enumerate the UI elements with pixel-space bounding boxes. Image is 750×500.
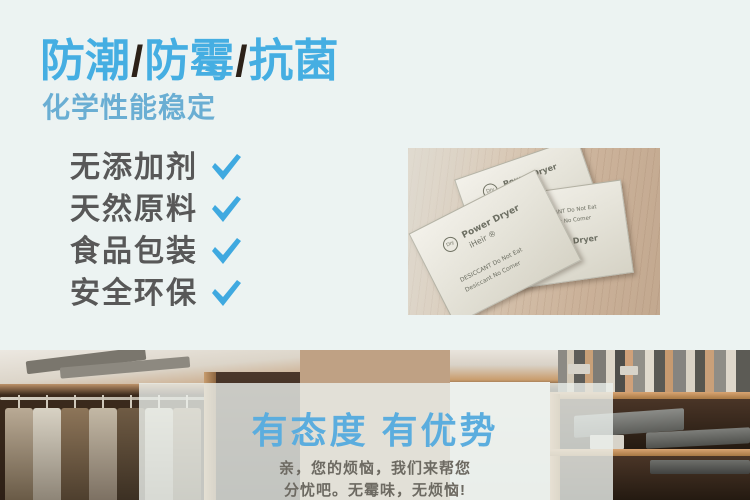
book [654,350,665,396]
book [726,350,736,396]
banner-subtitle: 亲，您的烦恼，我们来帮您 分忧吧。无霉味，无烦恼! [0,458,750,500]
banner-title: 有态度 有优势 [0,413,750,449]
book [686,350,695,396]
shelf-label [568,364,590,374]
book [695,350,705,396]
page-title: 防潮/防霉/抗菌 [40,38,339,84]
feature-label: 天然原料 [70,195,198,225]
feature-label: 食品包装 [70,237,198,267]
page-subtitle: 化学性能稳定 [42,94,216,122]
feature-list: 无添加剂 天然原料 食品包装 安全环保 [70,148,360,316]
dry-ring-icon: Dry [440,234,460,254]
product-photo: Dry Power Dryer iHeir ® DESICCANT Do Not… [408,148,660,315]
banner-subtitle-line-1: 亲，您的烦恼，我们来帮您 [0,458,750,480]
book [673,350,686,396]
check-icon [210,237,242,267]
headline-separator-1: / [130,37,144,86]
book [705,350,714,396]
headline-separator-2: / [234,37,248,86]
book [736,350,750,396]
book [645,350,654,396]
feature-label: 无添加剂 [70,153,198,183]
banner-subtitle-line-2: 分忧吧。无霉味，无烦恼! [0,480,750,500]
list-item: 安全环保 [70,274,360,314]
check-icon [210,153,242,183]
check-icon [210,195,242,225]
shelf-label [620,366,638,375]
top-section: 防潮/防霉/抗菌 化学性能稳定 无添加剂 天然原料 食品包装 [0,0,750,350]
headline-part-1: 防潮 [40,35,130,86]
check-icon [210,279,242,309]
list-item: 天然原料 [70,190,360,230]
feature-label: 安全环保 [70,279,198,309]
promo-page: 防潮/防霉/抗菌 化学性能稳定 无添加剂 天然原料 食品包装 [0,0,750,500]
list-item: 食品包装 [70,232,360,272]
book [714,350,726,396]
list-item: 无添加剂 [70,148,360,188]
headline-part-3: 抗菌 [249,35,339,86]
headline-part-2: 防霉 [144,35,234,86]
book [665,350,673,396]
